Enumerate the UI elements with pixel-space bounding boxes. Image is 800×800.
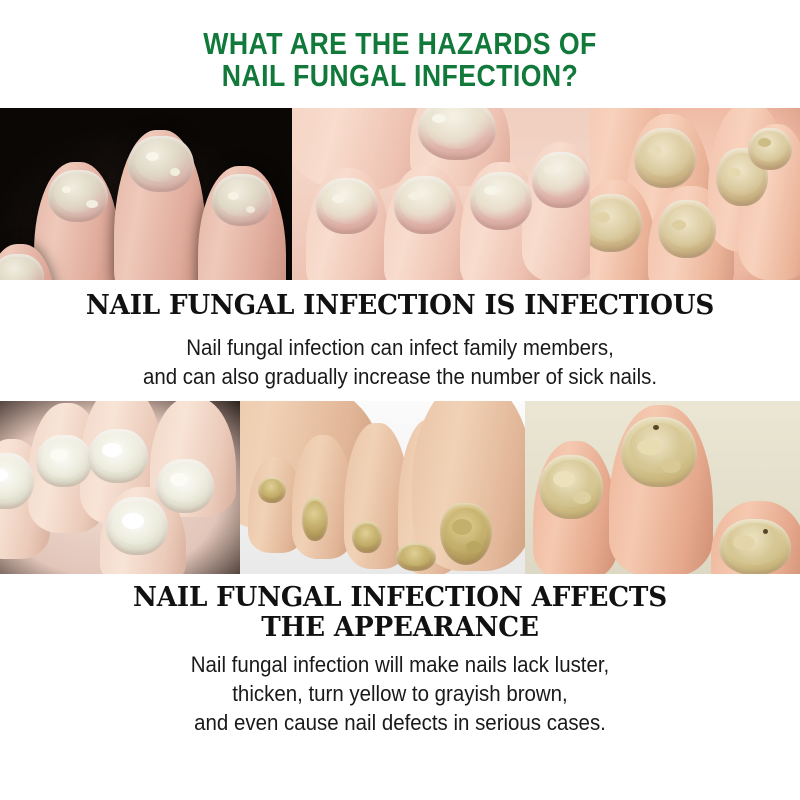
photo-row-bottom [0, 401, 800, 574]
photo-fingertips-close-up-damaged-nails [292, 108, 590, 280]
infographic-poster: WHAT ARE THE HAZARDS OF NAIL FUNGAL INFE… [0, 0, 800, 800]
title-line-2: NAIL FUNGAL INFECTION? [56, 60, 744, 92]
body-line: and can also gradually increase the numb… [28, 362, 772, 391]
body-line: thicken, turn yellow to grayish brown, [28, 679, 772, 708]
heading-line: THE APPEARANCE [12, 613, 788, 643]
section-body-appearance: Nail fungal infection will make nails la… [28, 650, 772, 737]
body-line: Nail fungal infection can infect family … [28, 333, 772, 362]
body-line: and even cause nail defects in serious c… [28, 708, 772, 737]
title-line-1: WHAT ARE THE HAZARDS OF [56, 28, 744, 60]
section-heading-appearance: NAIL FUNGAL INFECTION AFFECTS THE APPEAR… [12, 583, 788, 643]
section-body-infectious: Nail fungal infection can infect family … [28, 333, 772, 391]
poster-title: WHAT ARE THE HAZARDS OF NAIL FUNGAL INFE… [0, 0, 800, 92]
section-heading-infectious: NAIL FUNGAL INFECTION IS INFECTIOUS [12, 291, 788, 321]
photo-fingertips-thick-yellow-nails [525, 401, 800, 574]
photo-foot-yellow-toenails-white-background [240, 401, 525, 574]
photo-toes-yellow-thickened-nails [590, 108, 800, 280]
photo-hand-white-crumbly-nails [0, 401, 240, 574]
heading-line: NAIL FUNGAL INFECTION AFFECTS [12, 583, 788, 613]
photo-row-top [0, 108, 800, 280]
body-line: Nail fungal infection will make nails la… [28, 650, 772, 679]
photo-fingernails-onychomycosis-dark-background [0, 108, 292, 280]
